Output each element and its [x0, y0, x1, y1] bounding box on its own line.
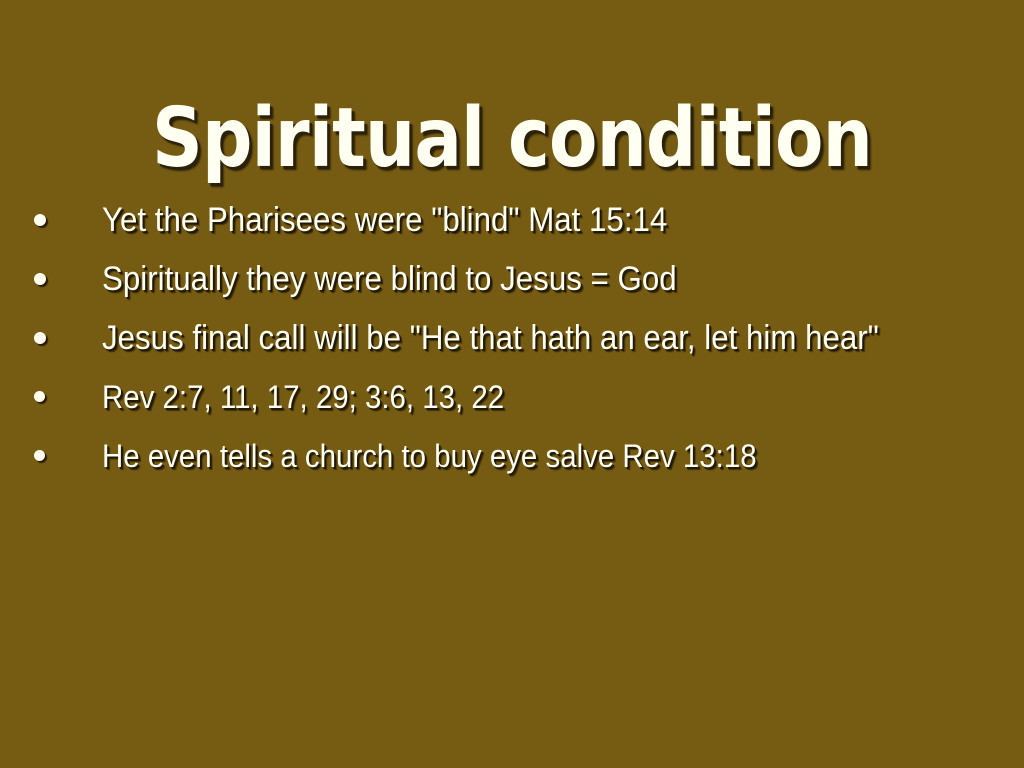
bullet-list-item: Rev 2:7, 11, 17, 29; 3:6, 13, 22	[0, 367, 1024, 426]
bullet-list-item: Jesus final call will be "He that hath a…	[0, 308, 1024, 367]
bullet-list: Yet the Pharisees were "blind" Mat 15:14…	[0, 190, 1024, 485]
bullet-dot-icon	[34, 450, 45, 461]
bullet-dot-icon	[34, 214, 46, 226]
bullet-list-item: Yet the Pharisees were "blind" Mat 15:14	[0, 190, 1024, 249]
bullet-item-text: He even tells a church to buy eye salve …	[102, 436, 757, 476]
slide-title: Spiritual condition	[72, 91, 953, 187]
bullet-item-text: Jesus final call will be "He that hath a…	[102, 318, 879, 358]
bullet-item-text: Rev 2:7, 11, 17, 29; 3:6, 13, 22	[102, 377, 504, 417]
bullet-item-text: Yet the Pharisees were "blind" Mat 15:14	[102, 200, 667, 240]
bullet-dot-icon	[34, 273, 46, 285]
bullet-item-text: Spiritually they were blind to Jesus = G…	[102, 259, 677, 299]
bullet-list-item: He even tells a church to buy eye salve …	[0, 426, 1024, 485]
bullet-list-item: Spiritually they were blind to Jesus = G…	[0, 249, 1024, 308]
bullet-dot-icon	[34, 332, 46, 344]
presentation-slide: Spiritual condition Yet the Pharisees we…	[0, 0, 1024, 768]
bullet-dot-icon	[34, 391, 45, 402]
